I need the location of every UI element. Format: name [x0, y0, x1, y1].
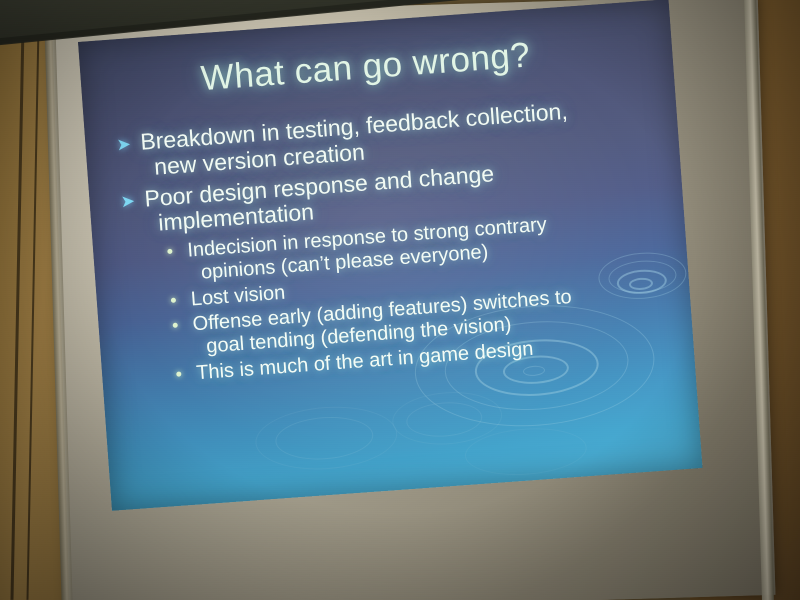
- ripple-ring-icon: [253, 402, 399, 474]
- arrow-bullet-icon: ➤: [120, 191, 136, 211]
- photo-scene: What can go wrong? ➤ Breakdown in testin…: [0, 0, 800, 600]
- slide-title: What can go wrong?: [200, 35, 532, 99]
- bullet-line: Lost vision: [190, 281, 286, 310]
- dot-bullet-icon: [167, 249, 172, 254]
- slide-body: ➤ Breakdown in testing, feedback collect…: [113, 91, 690, 393]
- arrow-bullet-icon: ➤: [116, 134, 132, 154]
- dot-bullet-icon: [171, 297, 176, 302]
- dot-bullet-icon: [176, 371, 181, 376]
- projected-slide: What can go wrong? ➤ Breakdown in testin…: [78, 0, 702, 511]
- dot-bullet-icon: [173, 323, 178, 328]
- slide-canvas: What can go wrong? ➤ Breakdown in testin…: [78, 0, 702, 511]
